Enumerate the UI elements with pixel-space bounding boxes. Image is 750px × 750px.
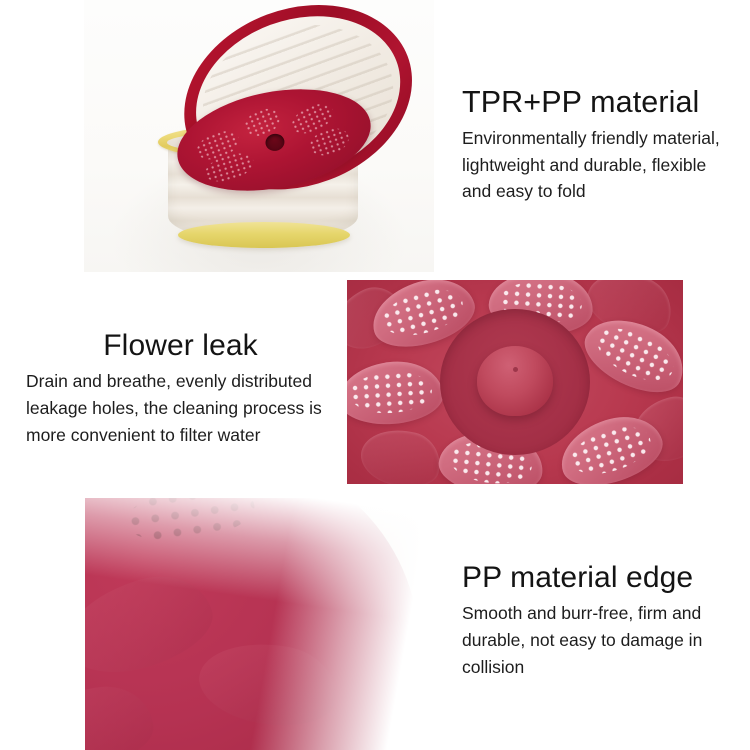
collapsed-colander-rings (85, 498, 443, 750)
leaf-emboss-detail (355, 421, 446, 484)
petal-emboss-detail (85, 682, 157, 750)
product-photo-colander-pair (84, 0, 434, 272)
product-photo-rim-edge (85, 498, 443, 750)
colander-face-surface (85, 498, 401, 750)
drain-hole-cluster (122, 498, 258, 549)
product-photo-flower-drain (347, 280, 683, 484)
feature-body-text: Smooth and burr-free, firm and durable, … (462, 600, 737, 680)
feature-heading: Flower leak (26, 330, 331, 362)
feature-heading: TPR+PP material (462, 86, 732, 119)
petal-emboss-detail (193, 633, 343, 736)
yellow-bowl-base-ring (178, 222, 350, 248)
lid-center-drain-hole (264, 132, 286, 152)
infographic-page: TPR+PP material Environmentally friendly… (0, 0, 750, 750)
flower-center-knob (477, 346, 553, 416)
feature-text-pp-material-edge: PP material edge Smooth and burr-free, f… (462, 562, 737, 680)
perforated-flower-petal (347, 358, 445, 427)
feature-body-text: Environmentally friendly material, light… (462, 125, 732, 205)
feature-heading: PP material edge (462, 562, 737, 594)
feature-body-text: Drain and breathe, evenly distributed le… (26, 368, 331, 448)
feature-text-tpr-pp-material: TPR+PP material Environmentally friendly… (462, 86, 732, 205)
feature-text-flower-leak: Flower leak Drain and breathe, evenly di… (26, 330, 331, 448)
